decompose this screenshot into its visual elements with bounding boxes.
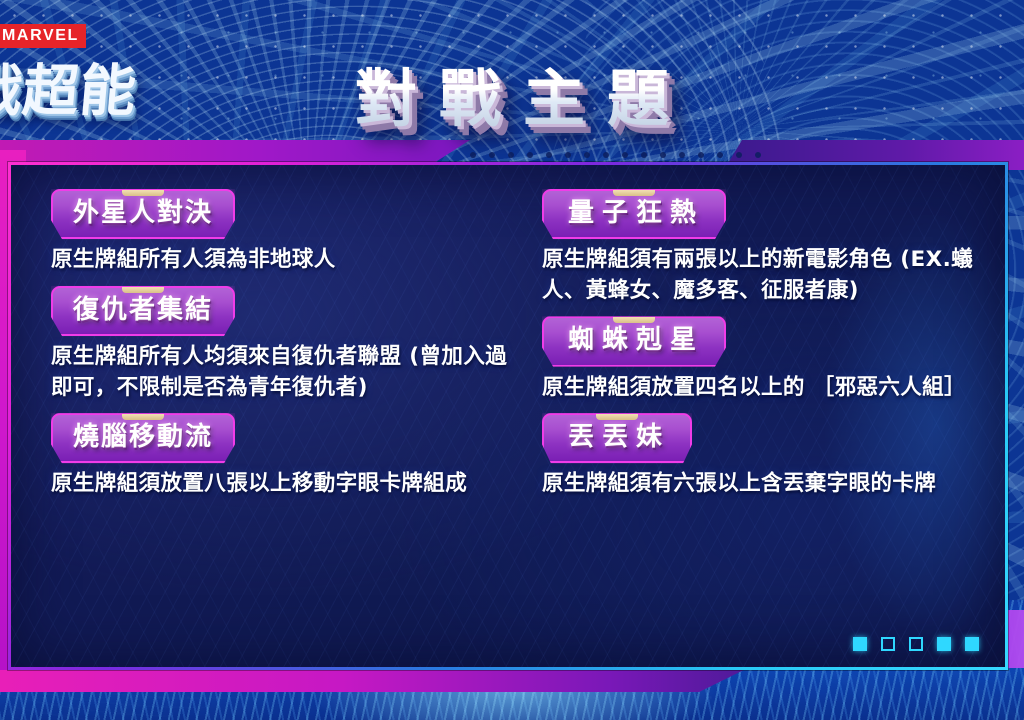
pagination-indicator[interactable] bbox=[853, 637, 979, 651]
topic-badge[interactable]: 丟丟妹 bbox=[542, 413, 692, 463]
topic-badge-label: 丟丟妹 bbox=[564, 424, 670, 451]
slide-root: MARVEL 戰超能 對戰主題 外星人對決 原生牌組所有人須為非地球人 bbox=[0, 0, 1024, 720]
page-title: 對戰主題 bbox=[0, 48, 1024, 138]
topic-item[interactable]: 復仇者集結 原生牌組所有人均須來自復仇者聯盟 (曾加入過即可，不限制是否為青年復… bbox=[51, 286, 510, 403]
show-title: 戰超能 bbox=[0, 46, 141, 127]
divider-dot bbox=[660, 152, 666, 158]
divider-dot bbox=[717, 152, 723, 158]
topic-badge[interactable]: 外星人對決 bbox=[51, 189, 235, 239]
topic-description: 原生牌組所有人均須來自復仇者聯盟 (曾加入過即可，不限制是否為青年復仇者) bbox=[51, 342, 510, 403]
divider-dot bbox=[641, 152, 647, 158]
topic-item[interactable]: 外星人對決 原生牌組所有人須為非地球人 bbox=[51, 189, 510, 276]
topic-badge[interactable]: 復仇者集結 bbox=[51, 286, 235, 336]
topics-columns: 外星人對決 原生牌組所有人須為非地球人 復仇者集結 原生牌組所有人均須來自復仇者… bbox=[11, 165, 1005, 667]
divider-dot bbox=[736, 152, 742, 158]
topic-badge-label: 復仇者集結 bbox=[73, 297, 213, 324]
topic-description: 原生牌組須放置八張以上移動字眼卡牌組成 bbox=[51, 469, 510, 500]
marvel-logo: MARVEL bbox=[0, 24, 86, 48]
divider-dot bbox=[489, 152, 495, 158]
topic-item[interactable]: 丟丟妹 原生牌組須有六張以上含丟棄字眼的卡牌 bbox=[542, 413, 987, 500]
divider-dot bbox=[565, 152, 571, 158]
pagination-dot-1[interactable] bbox=[853, 637, 867, 651]
topic-badge-label: 外星人對決 bbox=[73, 200, 213, 227]
divider-dot bbox=[622, 152, 628, 158]
topic-badge[interactable]: 蜘蛛剋星 bbox=[542, 316, 726, 366]
topic-description: 原生牌組所有人須為非地球人 bbox=[51, 245, 510, 276]
pagination-dot-2[interactable] bbox=[881, 637, 895, 651]
topic-badge[interactable]: 量子狂熱 bbox=[542, 189, 726, 239]
divider-dot bbox=[679, 152, 685, 158]
topics-column-right: 量子狂熱 原生牌組須有兩張以上的新電影角色 (EX.蟻人、黃蜂女、魔多客、征服者… bbox=[528, 189, 987, 647]
topics-column-left: 外星人對決 原生牌組所有人須為非地球人 復仇者集結 原生牌組所有人均須來自復仇者… bbox=[51, 189, 510, 647]
pagination-dot-5[interactable] bbox=[965, 637, 979, 651]
topic-item[interactable]: 燒腦移動流 原生牌組須放置八張以上移動字眼卡牌組成 bbox=[51, 413, 510, 500]
topic-badge-label: 量子狂熱 bbox=[564, 200, 704, 227]
divider-dot bbox=[508, 152, 514, 158]
topic-description: 原生牌組須放置四名以上的 ［邪惡六人組］ bbox=[542, 373, 987, 404]
pagination-dot-3[interactable] bbox=[909, 637, 923, 651]
marvel-logo-text: MARVEL bbox=[2, 27, 79, 45]
pagination-dot-4[interactable] bbox=[937, 637, 951, 651]
topic-description: 原生牌組須有六張以上含丟棄字眼的卡牌 bbox=[542, 469, 987, 500]
divider-dot bbox=[527, 152, 533, 158]
topic-badge[interactable]: 燒腦移動流 bbox=[51, 413, 235, 463]
topic-description: 原生牌組須有兩張以上的新電影角色 (EX.蟻人、黃蜂女、魔多客、征服者康) bbox=[542, 245, 987, 306]
divider-dot bbox=[603, 152, 609, 158]
topic-item[interactable]: 量子狂熱 原生牌組須有兩張以上的新電影角色 (EX.蟻人、黃蜂女、魔多客、征服者… bbox=[542, 189, 987, 306]
topics-panel: 外星人對決 原生牌組所有人須為非地球人 復仇者集結 原生牌組所有人均須來自復仇者… bbox=[8, 162, 1008, 670]
topic-item[interactable]: 蜘蛛剋星 原生牌組須放置四名以上的 ［邪惡六人組］ bbox=[542, 316, 987, 403]
title-dotted-divider bbox=[470, 150, 830, 160]
topic-badge-label: 蜘蛛剋星 bbox=[564, 327, 704, 354]
topic-badge-label: 燒腦移動流 bbox=[73, 424, 213, 451]
divider-dot bbox=[470, 152, 476, 158]
divider-dot bbox=[698, 152, 704, 158]
divider-dot bbox=[546, 152, 552, 158]
divider-dot bbox=[755, 152, 761, 158]
divider-dot bbox=[584, 152, 590, 158]
